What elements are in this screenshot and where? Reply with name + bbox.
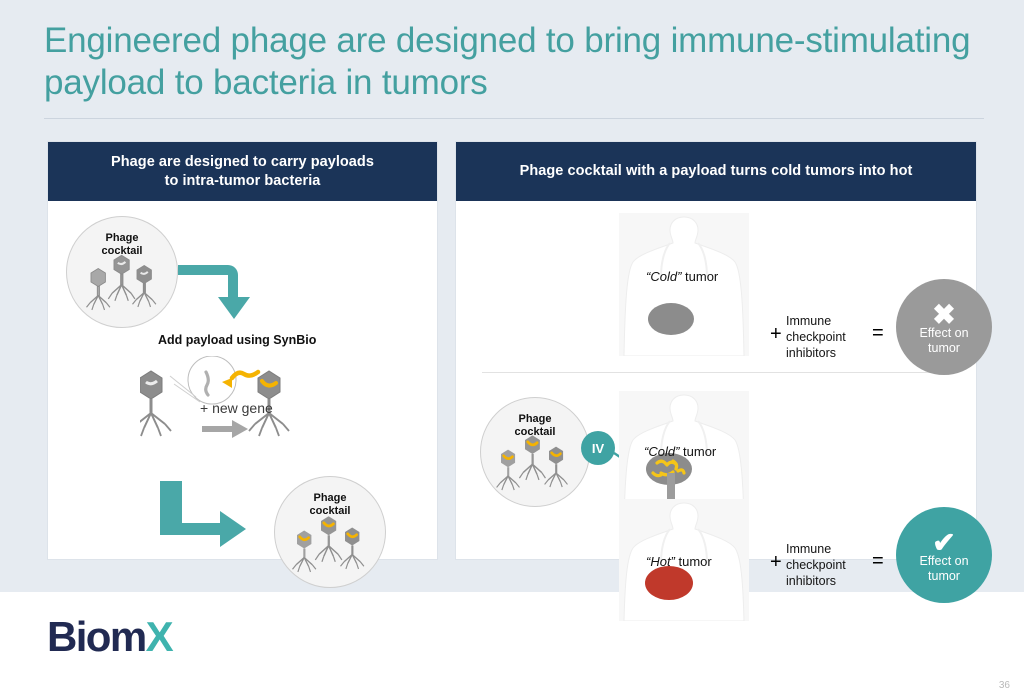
cross-icon: ✖: [896, 301, 992, 329]
cpi-line2: checkpoint: [786, 329, 846, 345]
phage-cocktail-circle-right: Phage cocktail: [480, 397, 590, 507]
hot-tumor-caption: “Hot” tumor: [646, 554, 712, 569]
iv-label: IV: [592, 441, 604, 456]
plus-operator-bottom: +: [770, 551, 782, 574]
right-panel-body: “Cold” tumor + Immune checkpoint inhibit…: [456, 201, 976, 559]
cold-tumor-caption-top: “Cold” tumor: [646, 269, 718, 284]
left-panel-header-line2: to intra-tumor bacteria: [111, 172, 374, 191]
check-icon: ✔: [896, 529, 992, 557]
slide-canvas: Engineered phage are designed to bring i…: [0, 0, 1024, 699]
effect-label-line2: tumor: [928, 569, 960, 584]
right-panel: Phage cocktail with a payload turns cold…: [456, 142, 976, 559]
cold-tumor-rest: tumor: [679, 444, 716, 459]
cpi-line2: checkpoint: [786, 557, 846, 573]
cpi-line3: inhibitors: [786, 345, 846, 361]
left-panel: Phage are designed to carry payloads to …: [48, 142, 437, 559]
iv-badge: IV: [581, 431, 615, 465]
cpi-line1: Immune: [786, 313, 846, 329]
left-panel-header-line1: Phage are designed to carry payloads: [111, 153, 374, 172]
cpi-line3: inhibitors: [786, 573, 846, 589]
teal-elbow-arrow-top: [176, 253, 266, 329]
cold-tumor-quoted: “Cold”: [646, 269, 681, 284]
phage-cocktail-circle-bottom: Phage cocktail: [274, 476, 386, 588]
biomx-logo: BiomX: [47, 615, 172, 659]
torso-silhouette-cold-top: [619, 213, 749, 356]
cold-tumor-caption-bottom: “Cold” tumor: [644, 444, 716, 459]
cold-tumor-rest: tumor: [681, 269, 718, 284]
phage-group-icon: [67, 217, 179, 329]
checkpoint-inhibitors-bottom: Immune checkpoint inhibitors: [786, 541, 846, 589]
equals-operator-bottom: =: [872, 550, 884, 573]
effect-on-tumor-badge-negative: ✖ Effect on tumor: [896, 279, 992, 375]
page-title: Engineered phage are designed to bring i…: [44, 20, 984, 104]
engineered-phage-group-icon: [275, 477, 387, 589]
cpi-line1: Immune: [786, 541, 846, 557]
slide-number: 36: [999, 680, 1010, 691]
left-panel-header: Phage are designed to carry payloads to …: [48, 142, 437, 201]
plus-operator-top: +: [770, 323, 782, 346]
hot-tumor-quoted: “Hot”: [646, 554, 675, 569]
right-panel-header: Phage cocktail with a payload turns cold…: [456, 142, 976, 201]
engineered-phage-group-icon-right: [481, 398, 591, 508]
logo-text-x: X: [146, 613, 172, 660]
teal-elbow-arrow-bottom: [158, 479, 268, 559]
hot-tumor-rest: tumor: [675, 554, 712, 569]
effect-label-line2: tumor: [928, 341, 960, 356]
row-divider: [482, 372, 950, 373]
logo-text-biom: Biom: [47, 613, 146, 660]
synbio-caption: Add payload using SynBio: [158, 333, 316, 347]
equals-operator-top: =: [872, 322, 884, 345]
checkpoint-inhibitors-top: Immune checkpoint inhibitors: [786, 313, 846, 361]
cold-tumor-quoted: “Cold”: [644, 444, 679, 459]
left-panel-body: Phage cocktail: [48, 201, 437, 559]
new-gene-caption: + new gene: [200, 400, 273, 416]
phage-cocktail-circle-top: Phage cocktail: [66, 216, 178, 328]
effect-on-tumor-badge-positive: ✔ Effect on tumor: [896, 507, 992, 603]
title-divider: [44, 118, 984, 119]
